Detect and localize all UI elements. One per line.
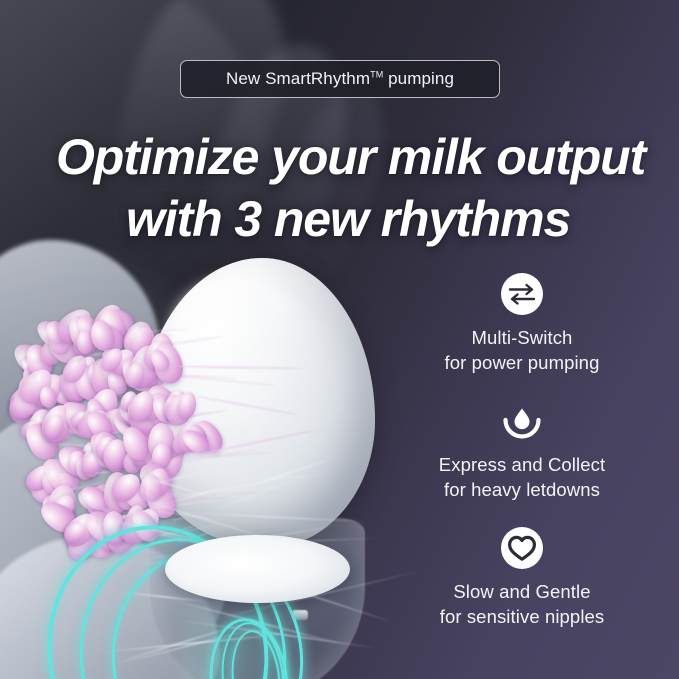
headline: Optimize your milk output with 3 new rhy…: [0, 126, 679, 250]
feature-subtitle: for power pumping: [445, 350, 600, 375]
feature-text: Slow and Gentle for sensitive nipples: [440, 579, 605, 629]
product-marketing-banner: New SmartRhythmTM pumping Optimize your …: [0, 0, 679, 679]
feature-list: Multi-Switch for power pumping Express a…: [398, 272, 646, 653]
feature-subtitle: for sensitive nipples: [440, 604, 605, 629]
trademark-symbol: TM: [370, 69, 383, 79]
badge-label-main: New SmartRhythm: [226, 69, 370, 88]
feature-title: Multi-Switch: [445, 325, 600, 350]
headline-line-2: with 3 new rhythms: [126, 188, 679, 250]
headline-line-1: Optimize your milk output: [56, 126, 679, 188]
feature-item-slow-gentle: Slow and Gentle for sensitive nipples: [398, 526, 646, 629]
feature-subtitle: for heavy letdowns: [439, 477, 605, 502]
heart-icon: [500, 526, 544, 570]
feature-title: Express and Collect: [439, 452, 605, 477]
droplet-icon: [500, 399, 544, 443]
product-illustration: [0, 250, 420, 679]
feature-item-express-collect: Express and Collect for heavy letdowns: [398, 399, 646, 502]
feature-text: Express and Collect for heavy letdowns: [439, 452, 605, 502]
feature-title: Slow and Gentle: [440, 579, 605, 604]
new-feature-badge: New SmartRhythmTM pumping: [180, 60, 500, 98]
badge-label: New SmartRhythmTM pumping: [226, 69, 454, 89]
feature-item-multi-switch: Multi-Switch for power pumping: [398, 272, 646, 375]
badge-label-suffix: pumping: [383, 69, 454, 88]
feature-text: Multi-Switch for power pumping: [445, 325, 600, 375]
switch-arrows-icon: [500, 272, 544, 316]
milk-surface: [165, 535, 350, 603]
